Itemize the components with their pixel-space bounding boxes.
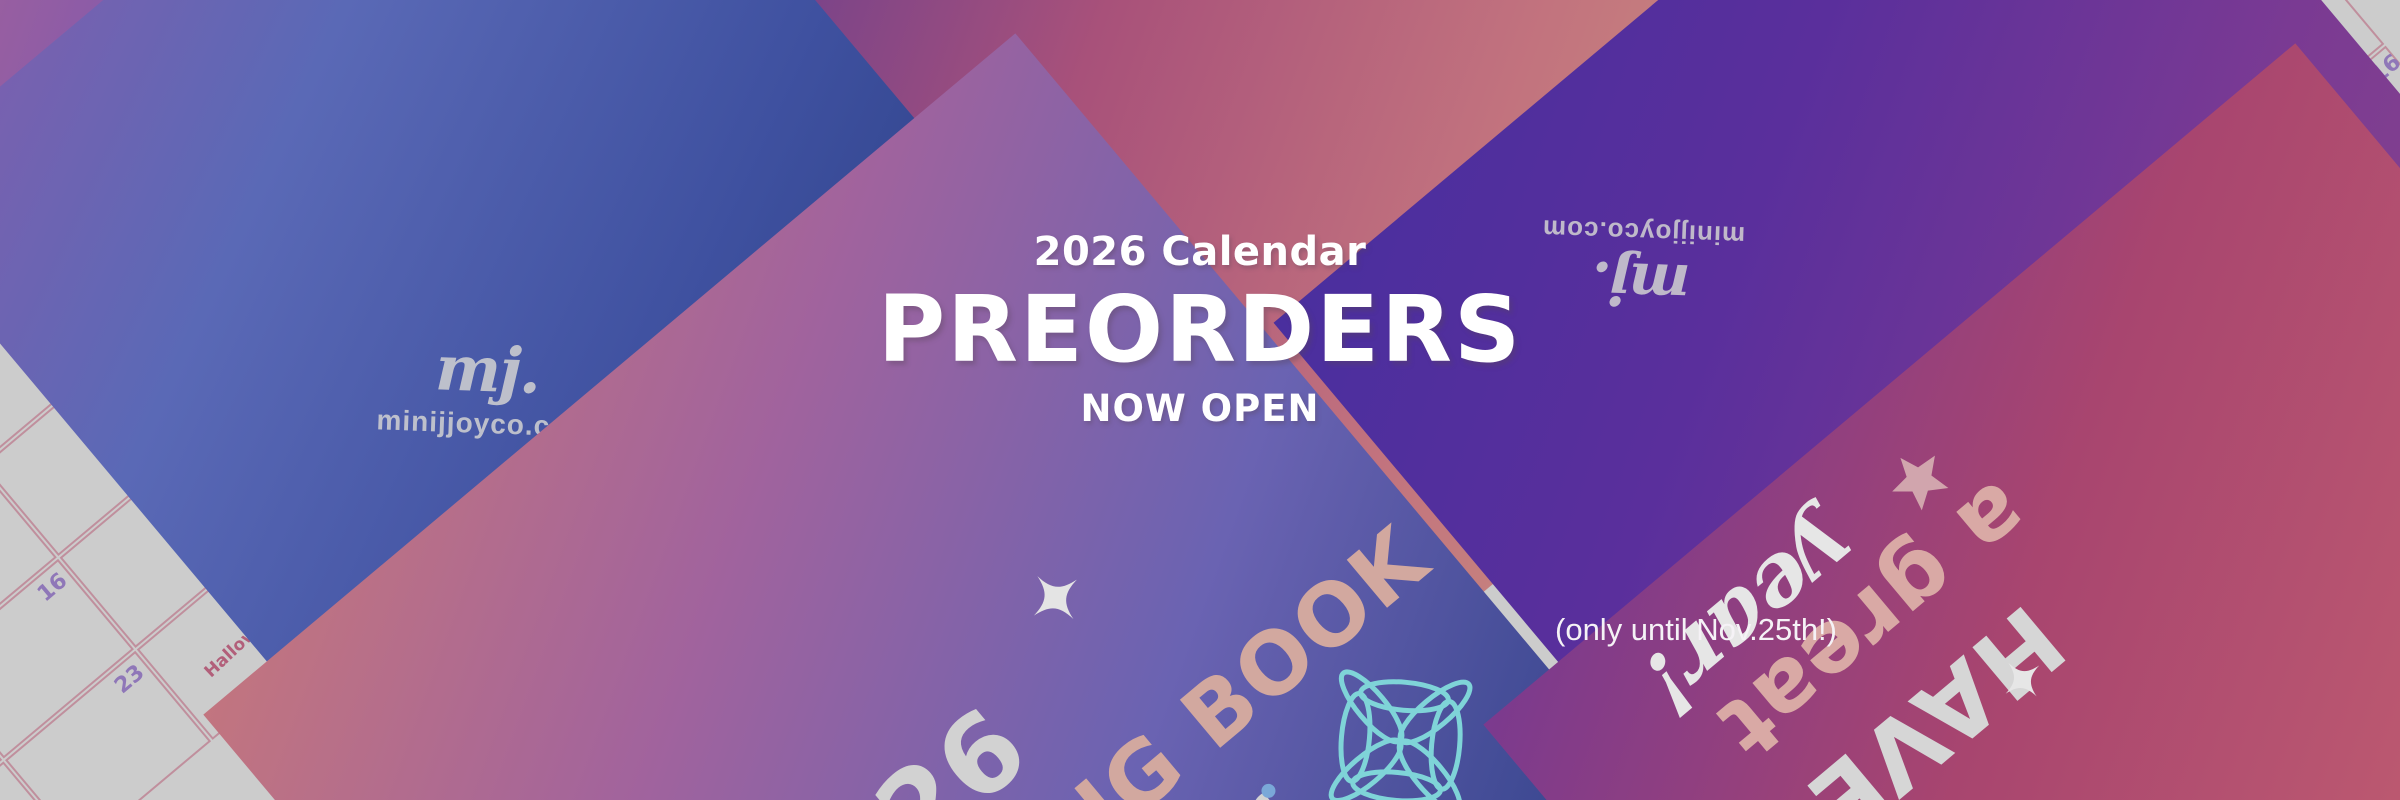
- sparkle-icon: [1016, 558, 1095, 637]
- great-year-line1: HAVE: [1786, 584, 2085, 800]
- sparkle-icon: [1991, 649, 2053, 711]
- star-icon: [1874, 435, 1961, 522]
- brand-watermark: mj. minijjoyco.com: [1539, 213, 1746, 321]
- coloring-calendar-line3: Calendar: [912, 769, 1307, 800]
- coloring-calendar-line2: COLORING BOOK: [742, 508, 1447, 800]
- coloring-calendar-year: 2026: [735, 684, 1052, 800]
- decor-dot: [1259, 781, 1279, 800]
- great-year-line2: a great: [1698, 462, 2049, 780]
- flower-icon: [1260, 600, 1542, 800]
- brand-mark: mj.: [1539, 246, 1745, 321]
- brand-mark: mj.: [377, 329, 597, 410]
- brand-domain: minijjoyco.com: [1541, 213, 1745, 251]
- promo-banner: Friday Saturday 1 2 3 8 9 10 15 16 17 23…: [0, 0, 2400, 800]
